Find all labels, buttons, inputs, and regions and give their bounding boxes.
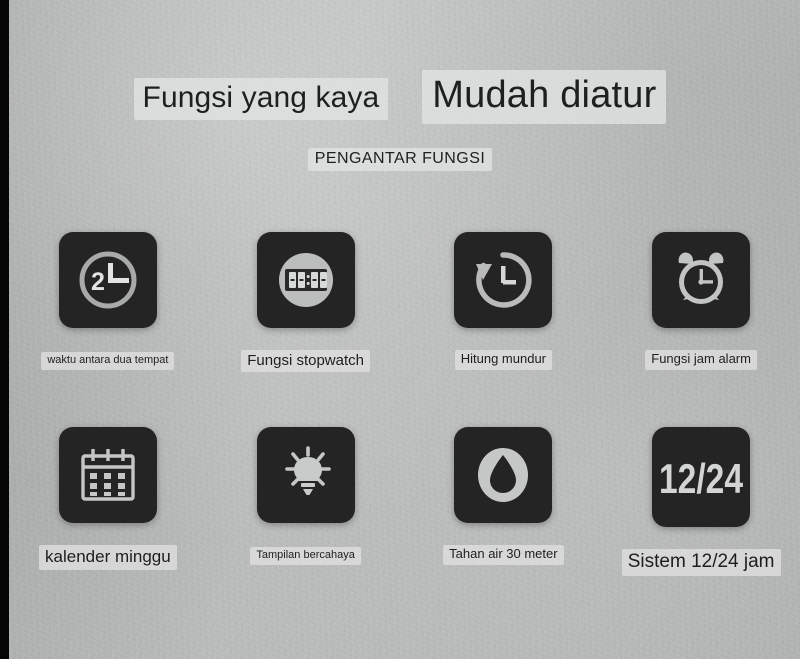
feature-item-dual-time[interactable]: 2 waktu antara dua tempat <box>9 232 207 427</box>
feature-item-countdown[interactable]: Hitung mundur <box>405 232 603 427</box>
feature-caption-wrap: Hitung mundur <box>455 350 552 370</box>
feature-tile[interactable] <box>257 427 355 523</box>
promo-feature-slide: Fungsi yang kayaMudah diatur PENGANTAR F… <box>0 0 800 659</box>
countdown-icon <box>470 247 536 313</box>
headline-row: Fungsi yang kayaMudah diatur <box>0 70 800 124</box>
headline-secondary: Mudah diatur <box>422 70 666 124</box>
feature-label: Tampilan bercahaya <box>250 547 360 565</box>
feature-label: kalender minggu <box>39 545 177 570</box>
light-bulb-icon <box>273 442 339 508</box>
feature-tile[interactable] <box>454 427 552 523</box>
feature-item-water-resistance[interactable]: Tahan air 30 meter <box>405 427 603 622</box>
headline-primary: Fungsi yang kaya <box>134 78 389 120</box>
calendar-icon <box>76 443 140 507</box>
feature-caption-wrap: waktu antara dua tempat <box>41 350 174 370</box>
water-drop-icon <box>470 442 536 508</box>
feature-tile[interactable] <box>454 232 552 328</box>
stopwatch-icon <box>271 245 341 315</box>
feature-tile[interactable]: 12/24 <box>652 427 750 527</box>
feature-tile[interactable]: 2 <box>59 232 157 328</box>
feature-label: Sistem 12/24 jam <box>622 549 781 576</box>
feature-grid: 2 waktu antara dua tempat <box>9 232 800 622</box>
feature-item-calendar[interactable]: kalender minggu <box>9 427 207 622</box>
feature-caption-wrap: Fungsi jam alarm <box>645 350 757 370</box>
feature-item-backlight[interactable]: Tampilan bercahaya <box>207 427 405 622</box>
subtitle-row: PENGANTAR FUNGSI <box>0 148 800 171</box>
feature-item-alarm[interactable]: Fungsi jam alarm <box>602 232 800 427</box>
svg-text:12/24: 12/24 <box>659 457 743 503</box>
alarm-clock-icon <box>668 247 734 313</box>
feature-tile[interactable] <box>652 232 750 328</box>
feature-caption-wrap: Tahan air 30 meter <box>443 545 563 565</box>
feature-caption-wrap: Tampilan bercahaya <box>250 545 360 565</box>
section-subtitle: PENGANTAR FUNGSI <box>308 148 492 171</box>
feature-label: Fungsi jam alarm <box>645 350 757 370</box>
dual-time-clock-icon: 2 <box>75 247 141 313</box>
feature-label: Fungsi stopwatch <box>241 350 370 372</box>
feature-caption-wrap: Fungsi stopwatch <box>241 350 370 372</box>
feature-item-stopwatch[interactable]: Fungsi stopwatch <box>207 232 405 427</box>
feature-label: waktu antara dua tempat <box>41 352 174 370</box>
feature-caption-wrap: Sistem 12/24 jam <box>622 549 781 576</box>
feature-label: Hitung mundur <box>455 350 552 370</box>
feature-tile[interactable] <box>59 427 157 523</box>
time-format-icon: 12/24 <box>657 446 745 508</box>
feature-label: Tahan air 30 meter <box>443 545 563 565</box>
feature-caption-wrap: kalender minggu <box>39 545 177 570</box>
feature-item-time-format[interactable]: 12/24 Sistem 12/24 jam <box>602 427 800 622</box>
feature-row: kalender minggu <box>9 427 800 622</box>
svg-text:2: 2 <box>91 268 105 296</box>
feature-tile[interactable] <box>257 232 355 328</box>
feature-row: 2 waktu antara dua tempat <box>9 232 800 427</box>
